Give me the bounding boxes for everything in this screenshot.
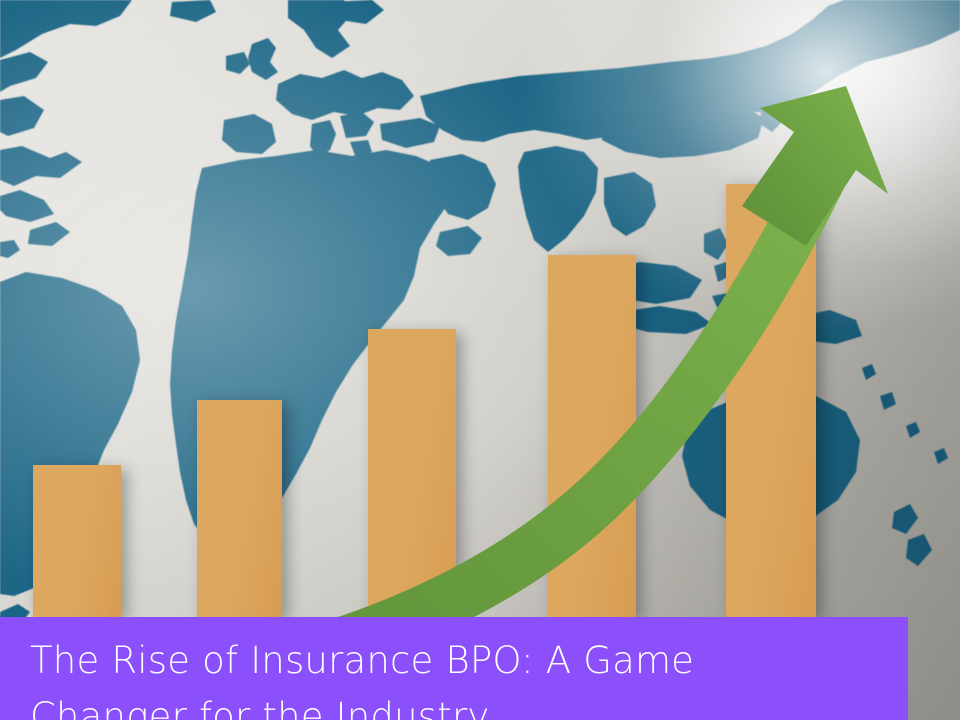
title-banner: The Rise of Insurance BPO: A Game Change…	[0, 617, 908, 720]
growth-arrow-icon	[0, 0, 960, 720]
header-graphic: The Rise of Insurance BPO: A Game Change…	[0, 0, 960, 720]
page-title: The Rise of Insurance BPO: A Game Change…	[30, 633, 890, 720]
